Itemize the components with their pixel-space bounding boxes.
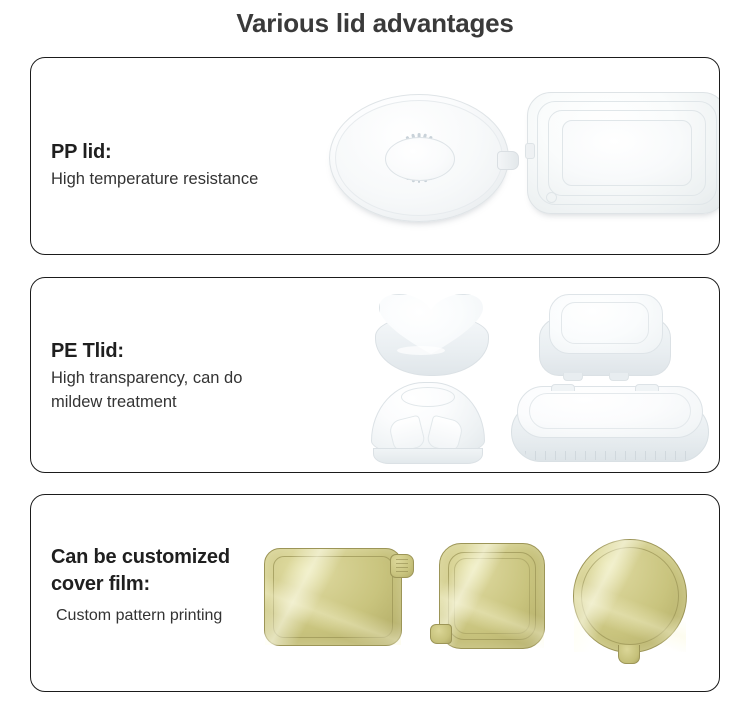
panel-pe-lid-description-line-1: High transparency, can do — [51, 367, 242, 391]
gold-rectangular-foil-lid — [264, 548, 402, 646]
panel-cover-film: Can be customized cover film: Custom pat… — [30, 494, 720, 692]
gold-round-foil-lid-tab — [618, 645, 640, 664]
rectangular-pp-lid-notch — [525, 143, 535, 159]
square-pe-lid-body — [539, 294, 669, 378]
panel-pp-lid-description: High temperature resistance — [51, 168, 258, 192]
round-pp-lid-center — [385, 137, 455, 181]
panel-pe-lid-heading: PE Tlid: — [51, 340, 242, 363]
dome-pe-lid-body — [371, 382, 483, 464]
heart-shaped-pe-lid — [371, 294, 491, 380]
round-pp-lid-tab — [497, 151, 519, 170]
page-title: Various lid advantages — [0, 8, 750, 39]
dome-pe-lid — [371, 382, 483, 464]
oval-pe-lid-body — [511, 386, 707, 462]
panel-pe-lid-text: PE Tlid: High transparency, can do milde… — [51, 340, 242, 415]
gold-round-foil-lid — [573, 539, 687, 653]
gold-square-foil-lid — [439, 543, 545, 649]
round-pp-lid-body — [329, 94, 509, 222]
oval-pe-lid — [511, 386, 707, 462]
panel-pe-lid: PE Tlid: High transparency, can do milde… — [30, 277, 720, 473]
rectangular-pp-lid-body — [527, 92, 720, 214]
round-pp-lid — [329, 94, 509, 222]
panel-pp-lid: PP lid: High temperature resistance — [30, 57, 720, 255]
rectangular-pp-lid-mark — [546, 192, 557, 203]
panel-cover-film-heading-line-2: cover film: — [51, 573, 230, 596]
gold-rectangular-foil-lid-tab — [390, 554, 414, 578]
gold-square-foil-lid-tab — [430, 624, 452, 644]
panel-pp-lid-heading: PP lid: — [51, 141, 258, 164]
gold-round-foil-lid-body — [573, 539, 687, 653]
square-pe-lid — [539, 294, 669, 378]
panel-cover-film-text: Can be customized cover film: Custom pat… — [51, 546, 230, 628]
heart-shaped-pe-lid-body — [371, 294, 491, 380]
gold-square-foil-lid-body — [439, 543, 545, 649]
panel-cover-film-description: Custom pattern printing — [51, 604, 230, 627]
panel-cover-film-heading-line-1: Can be customized — [51, 546, 230, 569]
rectangular-pp-lid — [527, 92, 720, 214]
panel-pe-lid-description-line-2: mildew treatment — [51, 391, 242, 415]
panel-pp-lid-text: PP lid: High temperature resistance — [51, 141, 258, 192]
gold-rectangular-foil-lid-body — [264, 548, 402, 646]
